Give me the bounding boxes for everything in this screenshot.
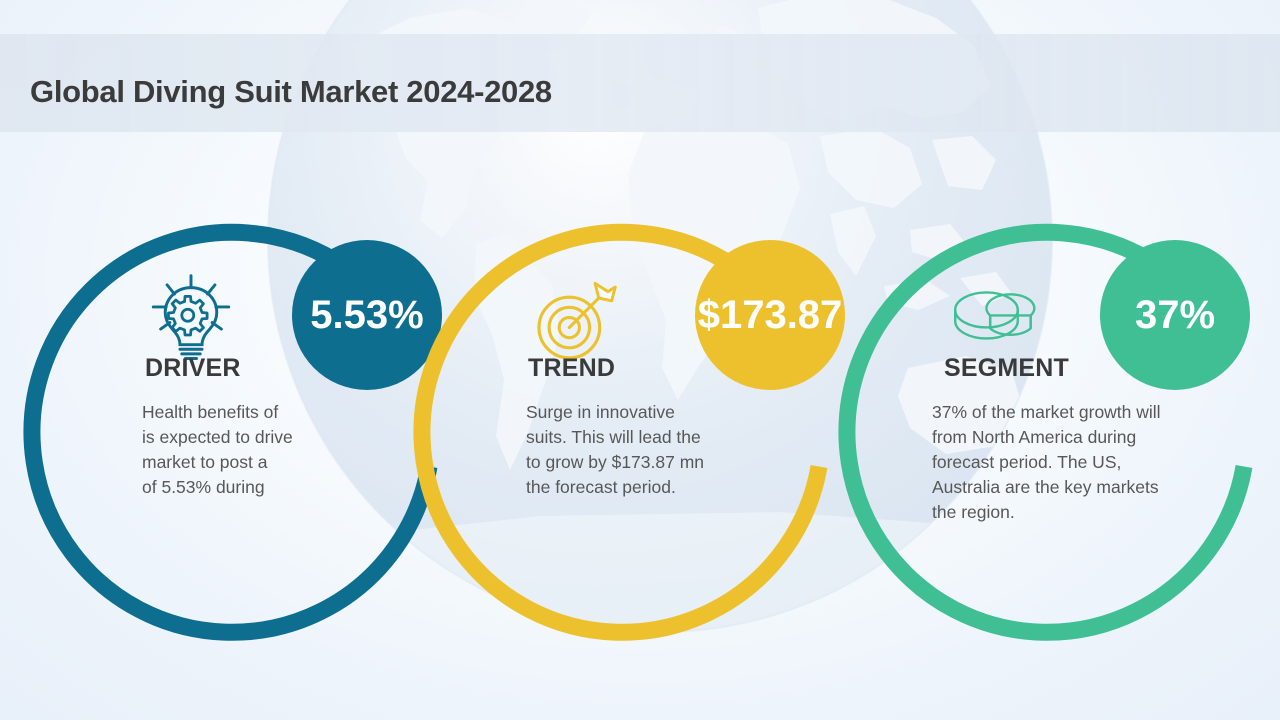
body-line: Australia are the key markets <box>932 475 1222 500</box>
body-line: market to post a <box>142 450 442 475</box>
infographic-slide: Global Diving Suit Market 2024-2028 <box>0 0 1280 720</box>
body-line: Health benefits of <box>142 400 442 425</box>
panel-label-driver: DRIVER <box>145 354 241 383</box>
body-line: suits. This will lead the <box>526 425 826 450</box>
panel-label-trend: TREND <box>528 354 615 383</box>
panel-body-trend: Surge in innovative suits. This will lea… <box>526 400 826 500</box>
badge-trend: $173.87 <box>695 240 845 390</box>
panel-segment: SEGMENT 37% of the market growth will fr… <box>832 0 1272 720</box>
panel-driver: DRIVER Health benefits of is expected to… <box>17 0 457 720</box>
body-line: the forecast period. <box>526 475 826 500</box>
panel-body-driver: Health benefits of is expected to drive … <box>142 400 442 500</box>
badge-value-segment: 37% <box>1135 295 1215 335</box>
badge-value-trend: $173.87 <box>698 295 843 335</box>
lightbulb-gear-icon <box>145 272 237 364</box>
panel-body-segment: 37% of the market growth will from North… <box>932 400 1222 525</box>
body-line: Surge in innovative <box>526 400 826 425</box>
panel-label-segment: SEGMENT <box>944 354 1069 383</box>
body-line: is expected to drive <box>142 425 442 450</box>
body-line: forecast period. The US, <box>932 450 1222 475</box>
body-line: to grow by $173.87 mn <box>526 450 826 475</box>
body-line: the region. <box>932 500 1222 525</box>
body-line: from North America during <box>932 425 1222 450</box>
panel-trend: TREND Surge in innovative suits. This wi… <box>407 0 847 720</box>
body-line: of 5.53% during <box>142 475 442 500</box>
body-line: 37% of the market growth will <box>932 400 1222 425</box>
badge-segment: 37% <box>1100 240 1250 390</box>
